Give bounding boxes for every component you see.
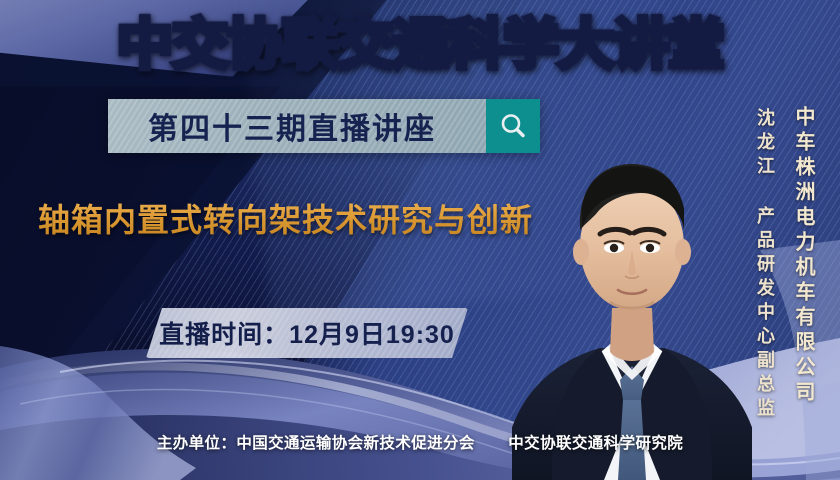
- search-icon[interactable]: [486, 99, 540, 153]
- lecture-title: 轴箱内置式转向架技术研究与创新: [38, 195, 533, 241]
- live-time-badge: 直播时间：12月9日19:30: [146, 308, 468, 358]
- page-title-text: 中交协联交通科学大讲堂: [117, 15, 723, 75]
- speaker-company: 中车株洲电力机车有限公司: [789, 106, 818, 406]
- footer-organizer-secondary: 中交协联交通科学研究院: [508, 435, 683, 452]
- episode-subtitle-bar: 第四十三期直播讲座: [108, 99, 540, 153]
- speaker-portrait: [512, 80, 752, 480]
- footer-organizers: 主办单位：中国交通运输协会新技术促进分会 中交协联交通科学研究院: [0, 431, 840, 453]
- episode-label: 第四十三期直播讲座: [108, 99, 486, 153]
- live-lecture-poster: 中交协联交通科学大讲堂 中交协联交通科学大讲堂 第四十三期直播讲座 轴箱内置式转…: [0, 0, 840, 480]
- footer-organizer-primary: 主办单位：中国交通运输协会新技术促进分会: [157, 435, 475, 452]
- speaker-name-role: 沈龙江 产品研发中心副总监: [752, 108, 778, 422]
- page-title: 中交协联交通科学大讲堂 中交协联交通科学大讲堂: [0, 14, 840, 76]
